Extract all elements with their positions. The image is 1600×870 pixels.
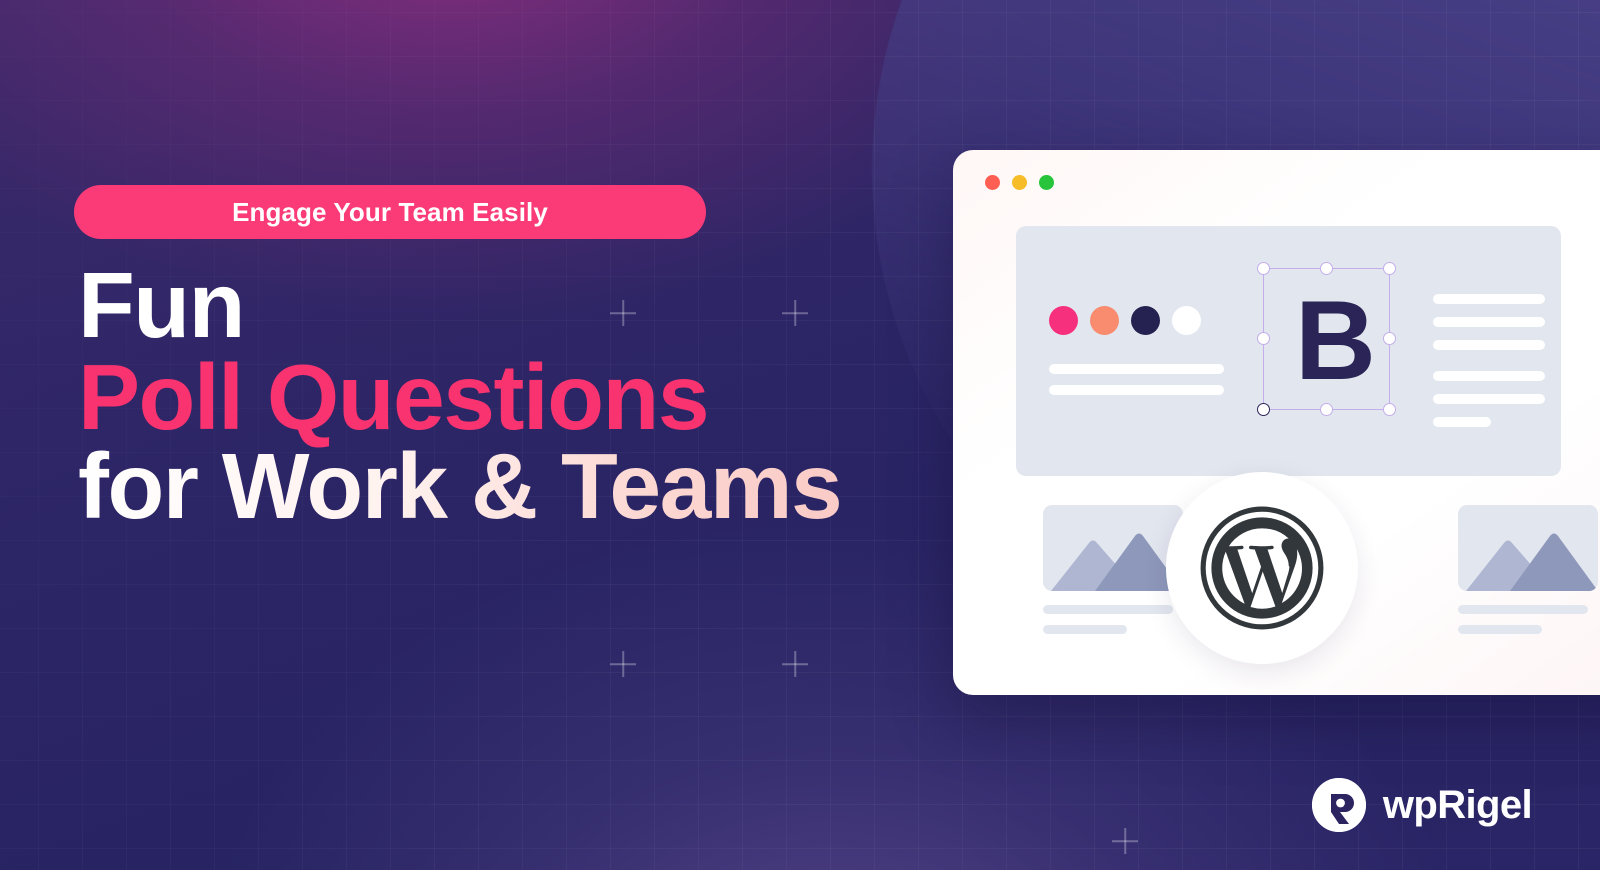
resize-handle-middle-left[interactable]: [1257, 332, 1270, 345]
resize-handle-bottom-center[interactable]: [1320, 403, 1333, 416]
text-line-placeholder: [1049, 364, 1224, 374]
editor-left-text-lines: [1049, 364, 1224, 395]
resize-handle-top-left[interactable]: [1257, 262, 1270, 275]
editor-card: B: [1016, 226, 1561, 476]
hero-copy: Engage Your Team Easily Fun Poll Questio…: [74, 185, 874, 530]
wordpress-badge: [1166, 472, 1358, 664]
text-line-placeholder: [1049, 385, 1224, 395]
headline-line-3: for Work & Teams: [74, 444, 874, 530]
browser-traffic-lights: [985, 175, 1054, 190]
resize-handle-top-center[interactable]: [1320, 262, 1333, 275]
minimize-dot-icon: [1012, 175, 1027, 190]
text-line-placeholder: [1433, 340, 1545, 350]
text-line-placeholder: [1458, 605, 1588, 614]
image-card-text-lines: [1043, 605, 1183, 634]
swatch-pink-icon: [1049, 306, 1078, 335]
image-card-text-lines: [1458, 605, 1598, 634]
headline-line-1: Fun: [74, 263, 874, 349]
brand-logo: wpRigel: [1312, 778, 1532, 832]
image-placeholder-icon: [1043, 505, 1183, 591]
hero-banner: Engage Your Team Easily Fun Poll Questio…: [0, 0, 1600, 870]
headline-line-2: Poll Questions: [74, 355, 874, 441]
page-title: Fun Poll Questions for Work & Teams: [74, 263, 874, 530]
close-dot-icon: [985, 175, 1000, 190]
swatch-navy-icon: [1131, 306, 1160, 335]
resize-handle-top-right[interactable]: [1383, 262, 1396, 275]
resize-handle-bottom-right[interactable]: [1383, 403, 1396, 416]
text-line-placeholder: [1433, 371, 1545, 381]
editor-right-text-group-a: [1433, 294, 1545, 350]
text-line-placeholder: [1433, 417, 1491, 427]
text-line-placeholder: [1433, 294, 1545, 304]
image-card: [1043, 505, 1183, 634]
text-line-placeholder: [1043, 625, 1127, 634]
text-line-placeholder: [1433, 394, 1545, 404]
swatch-salmon-icon: [1090, 306, 1119, 335]
text-line-placeholder: [1043, 605, 1173, 614]
wprigel-logo-icon: [1312, 778, 1366, 832]
text-line-placeholder: [1458, 625, 1542, 634]
eyebrow-badge: Engage Your Team Easily: [74, 185, 706, 239]
editor-right-text-group-b: [1433, 371, 1545, 427]
maximize-dot-icon: [1039, 175, 1054, 190]
color-swatch-row: [1049, 306, 1201, 335]
swatch-white-icon: [1172, 306, 1201, 335]
selection-box[interactable]: B: [1263, 268, 1390, 410]
text-line-placeholder: [1433, 317, 1545, 327]
selected-letter: B: [1264, 269, 1389, 409]
browser-mockup: B: [953, 150, 1600, 695]
wordpress-icon: [1199, 505, 1325, 631]
resize-handle-middle-right[interactable]: [1383, 332, 1396, 345]
brand-name-label: wpRigel: [1383, 783, 1532, 828]
image-placeholder-icon: [1458, 505, 1598, 591]
image-card: [1458, 505, 1598, 634]
resize-handle-bottom-left[interactable]: [1257, 403, 1270, 416]
